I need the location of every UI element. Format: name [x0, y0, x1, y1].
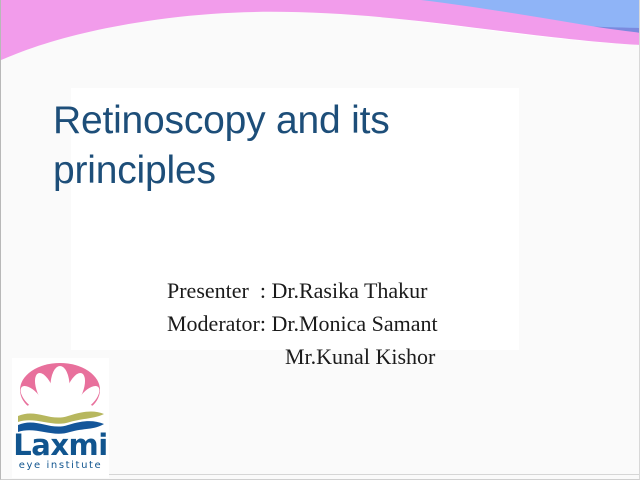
credit-presenter: Presenter : Dr.Rasika Thakur: [167, 274, 567, 307]
slide-title: Retinoscopy and its principles: [53, 96, 523, 196]
credit-moderator-secondary: Mr.Kunal Kishor: [167, 340, 567, 373]
logo-tagline: eye institute: [12, 460, 109, 471]
institute-logo: Laxmi eye institute: [12, 358, 109, 478]
logo-wordmark: Laxmi: [12, 430, 109, 461]
lotus-logo-icon: [12, 360, 109, 435]
credits-block: Presenter : Dr.Rasika Thakur Moderator: …: [167, 274, 567, 373]
banner-decoration: [1, 0, 640, 62]
presentation-slide: Retinoscopy and its principles Presenter…: [0, 0, 640, 480]
bottom-divider: [109, 474, 639, 475]
credit-moderator: Moderator: Dr.Monica Samant: [167, 307, 567, 340]
